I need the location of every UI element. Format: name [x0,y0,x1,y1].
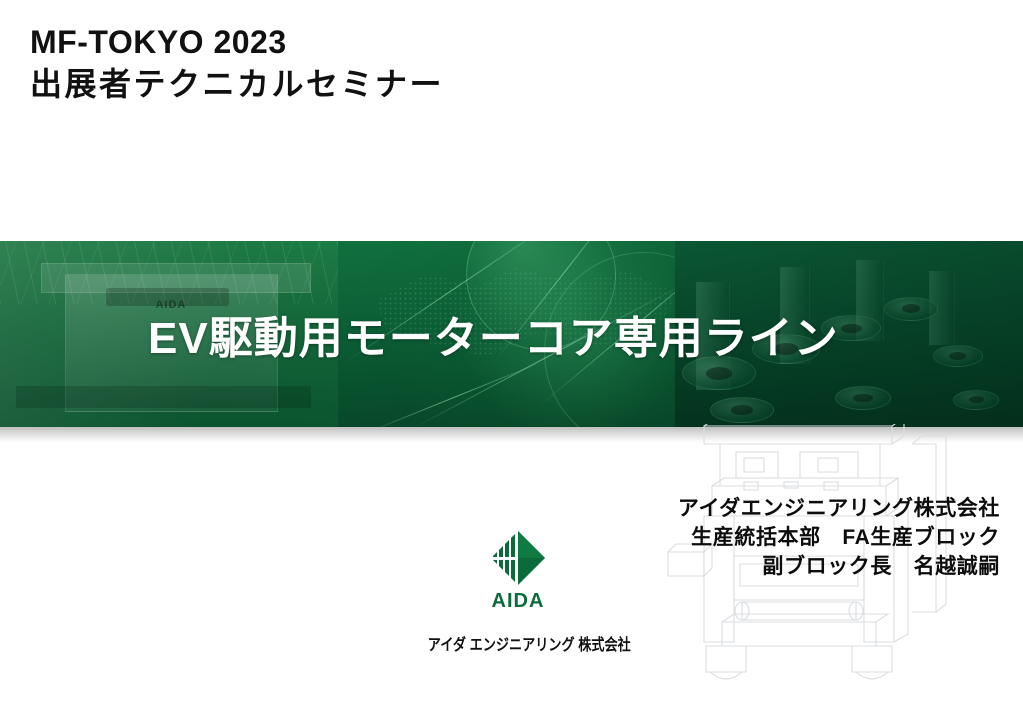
title-banner: AIDA [0,241,1023,427]
slide-title: EV駆動用モーターコア専用ライン [148,241,839,427]
slide-header: MF-TOKYO 2023 出展者テクニカルセミナー [30,22,630,106]
aida-diamond-logo-icon [487,527,549,589]
presenter-info: アイダエンジニアリング株式会社 生産統括本部 FA生産ブロック 副ブロック長 名… [678,494,1000,581]
presenter-company: アイダエンジニアリング株式会社 [678,494,1000,523]
aida-company-name: アイダ エンジニアリング 株式会社 [428,631,608,655]
aida-logo: AIDA アイダ エンジニアリング 株式会社 [408,527,628,655]
aida-wordmark: AIDA [408,590,628,613]
seminar-name: 出展者テクニカルセミナー [30,62,630,106]
event-name: MF-TOKYO 2023 [30,22,630,62]
presenter-division: 生産統括本部 FA生産ブロック [678,523,1000,552]
title-slide: MF-TOKYO 2023 出展者テクニカルセミナー [0,0,1023,706]
presenter-title-name: 副ブロック長 名越誠嗣 [678,552,1000,581]
